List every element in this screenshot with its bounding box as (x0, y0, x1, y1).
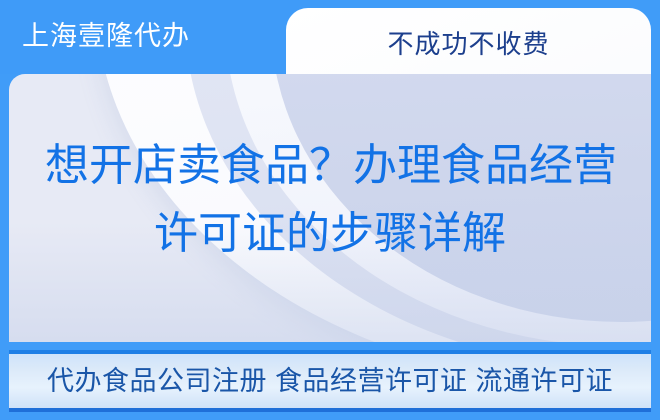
keyword-bar: 代办食品公司注册 食品经营许可证 流通许可证 (9, 350, 651, 412)
main-content-panel: 想开店卖食品？办理食品经营 许可证的步骤详解 (9, 74, 651, 342)
tagline-text: 不成功不收费 (286, 25, 651, 63)
headline: 想开店卖食品？办理食品经营 许可证的步骤详解 (9, 132, 651, 268)
headline-line-1: 想开店卖食品？办理食品经营 (9, 132, 651, 200)
brand-name: 上海壹隆代办 (22, 16, 190, 56)
headline-line-2: 许可证的步骤详解 (9, 200, 651, 268)
promo-banner: 上海壹隆代办 不成功不收费 想开店卖食品？办理食品经营 许可证的步骤详解 代办食… (0, 0, 660, 420)
keyword-list: 代办食品公司注册 食品经营许可证 流通许可证 (47, 361, 613, 401)
